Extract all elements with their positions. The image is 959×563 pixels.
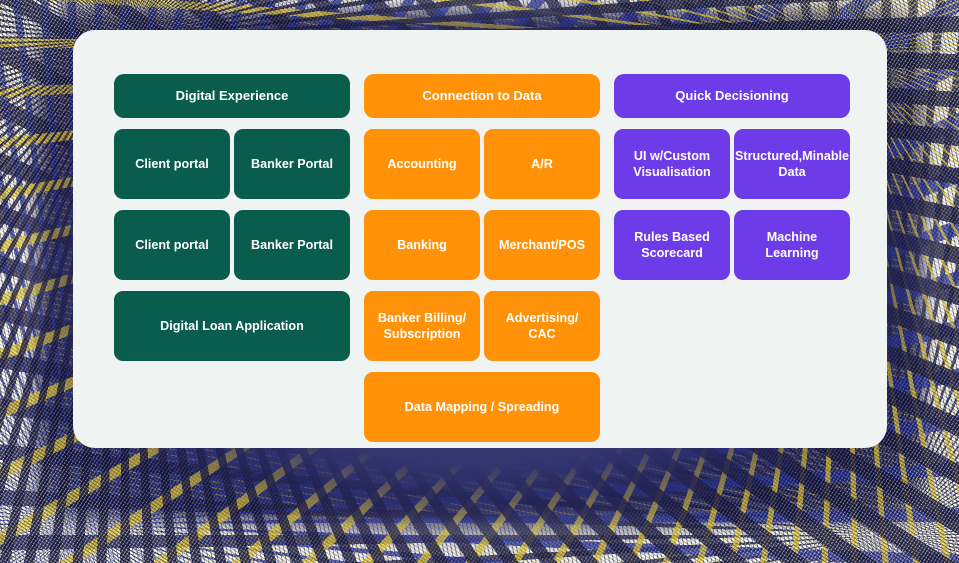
tile[interactable]: Client portal — [114, 210, 230, 280]
column-digital_experience: Digital ExperienceClient portalBanker Po… — [114, 74, 350, 361]
tile[interactable]: Machine Learning — [734, 210, 850, 280]
tile-row: BankingMerchant/POS — [364, 210, 600, 280]
tile[interactable]: Client portal — [114, 129, 230, 199]
capability-matrix: Digital ExperienceClient portalBanker Po… — [114, 74, 846, 442]
tile-row: UI w/Custom VisualisationStructured,Mina… — [614, 129, 850, 199]
tile[interactable]: Advertising/ CAC — [484, 291, 600, 361]
tile-row: Banker Billing/ SubscriptionAdvertising/… — [364, 291, 600, 361]
tile[interactable]: Digital Loan Application — [114, 291, 350, 361]
tile[interactable]: Rules Based Scorecard — [614, 210, 730, 280]
tile[interactable]: Data Mapping / Spreading — [364, 372, 600, 442]
column-connection_to_data: Connection to DataAccountingA/RBankingMe… — [364, 74, 600, 442]
diagram-card: Digital ExperienceClient portalBanker Po… — [73, 30, 887, 448]
tile-row: AccountingA/R — [364, 129, 600, 199]
tile-row: Digital Loan Application — [114, 291, 350, 361]
tile[interactable]: Merchant/POS — [484, 210, 600, 280]
tile[interactable]: Banker Portal — [234, 129, 350, 199]
tile[interactable]: Banker Portal — [234, 210, 350, 280]
tile-row: Data Mapping / Spreading — [364, 372, 600, 442]
tile[interactable]: Structured,Minable Data — [734, 129, 850, 199]
tile[interactable]: UI w/Custom Visualisation — [614, 129, 730, 199]
tile-row: Client portalBanker Portal — [114, 129, 350, 199]
column-header-connection_to_data[interactable]: Connection to Data — [364, 74, 600, 118]
column-quick_decisioning: Quick DecisioningUI w/Custom Visualisati… — [614, 74, 850, 280]
tile[interactable]: Banker Billing/ Subscription — [364, 291, 480, 361]
column-header-quick_decisioning[interactable]: Quick Decisioning — [614, 74, 850, 118]
tile[interactable]: Accounting — [364, 129, 480, 199]
tile-row: Client portalBanker Portal — [114, 210, 350, 280]
tile[interactable]: A/R — [484, 129, 600, 199]
tile[interactable]: Banking — [364, 210, 480, 280]
tile-row: Rules Based ScorecardMachine Learning — [614, 210, 850, 280]
column-header-digital_experience[interactable]: Digital Experience — [114, 74, 350, 118]
